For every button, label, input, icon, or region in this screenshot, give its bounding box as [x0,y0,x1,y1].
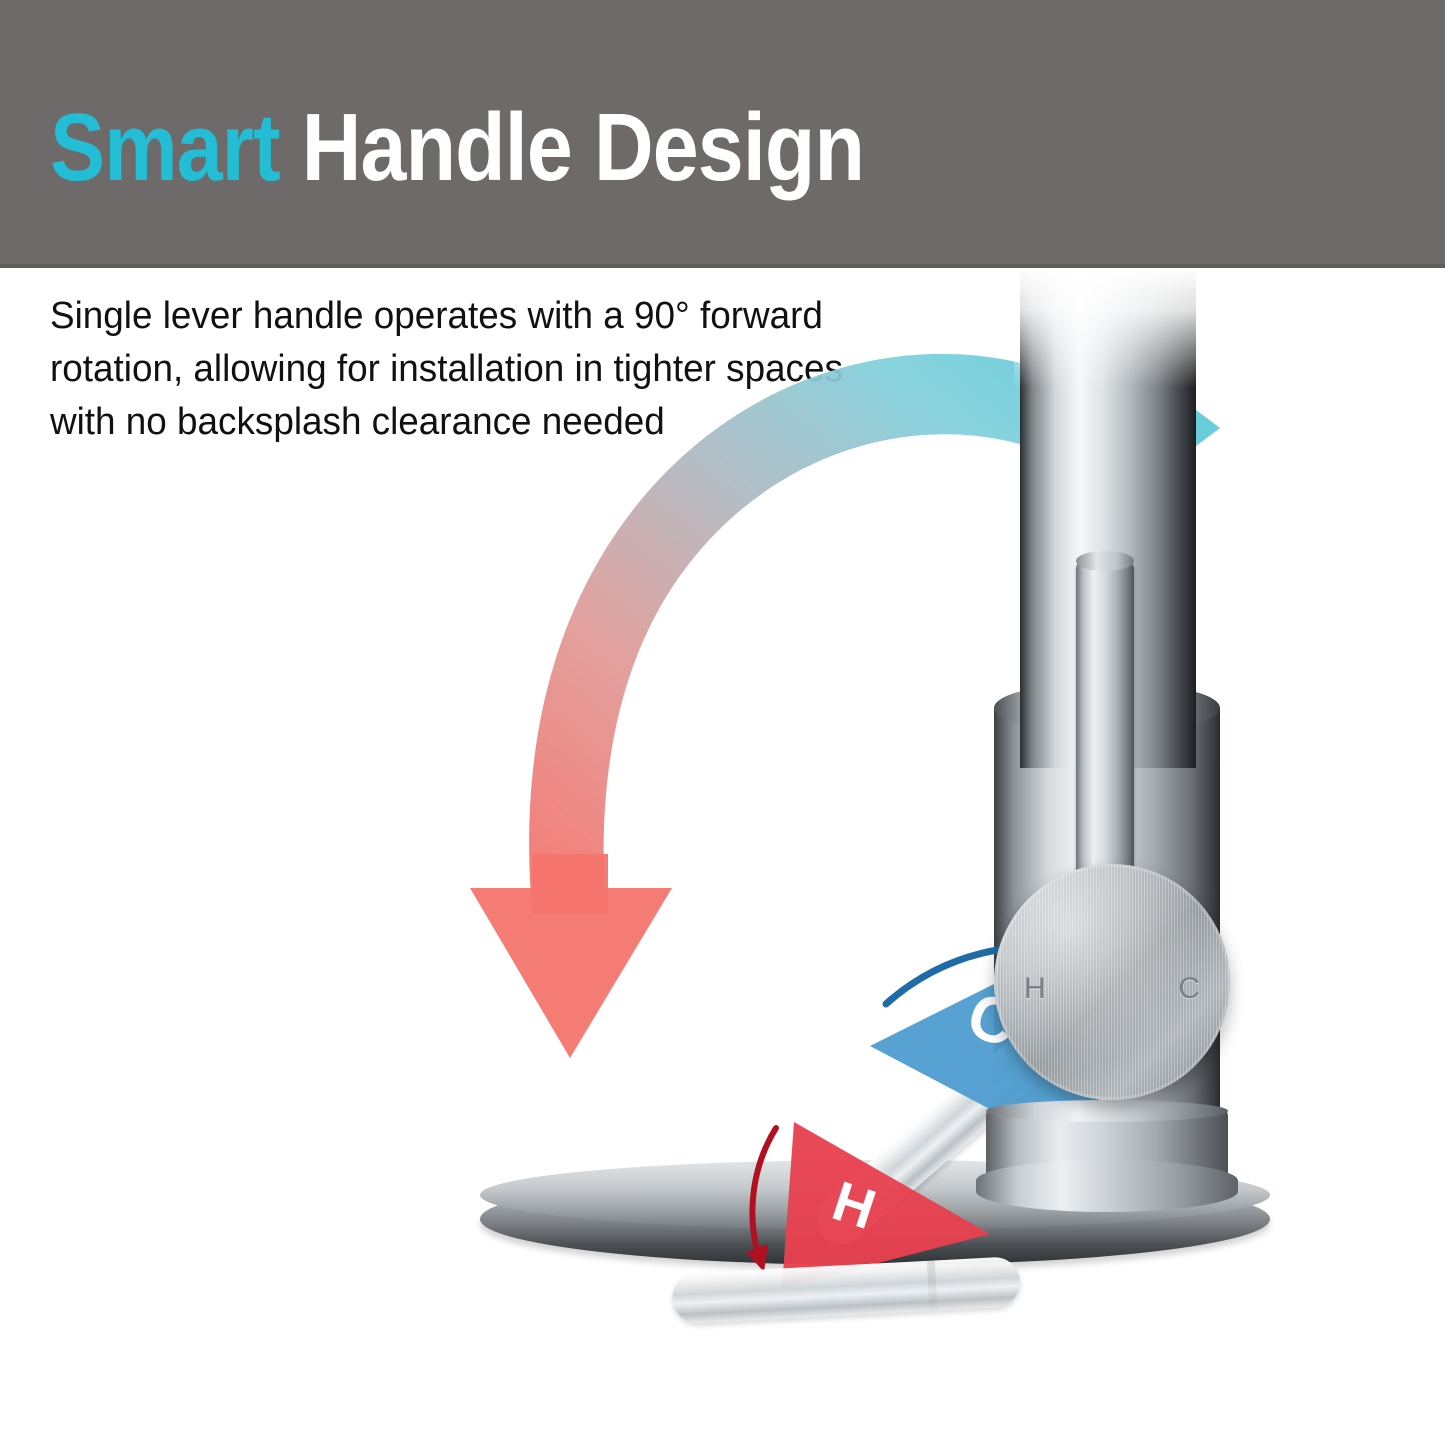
hot-rotation-arrowhead [746,1244,768,1272]
lever-ghost-horizontal [671,1256,1021,1324]
handle-hub[interactable]: H C [994,864,1230,1100]
faucet-assembly: C H H C [0,268,1445,1445]
product-illustration: C H H C [0,268,1445,1445]
spout-top-fade [1014,268,1204,388]
hub-hot-mark: H [1024,972,1046,1006]
faucet-collar-base [976,1160,1238,1212]
header-bar: Smart Handle Design [0,0,1445,268]
infographic-page: Smart Handle Design Single lever handle … [0,0,1445,1445]
title-accent-word: Smart [50,94,280,201]
title-rest: Handle Design [280,94,864,201]
page-title: Smart Handle Design [50,96,864,200]
hub-cold-mark: C [1178,972,1200,1006]
hot-rotation-arrow [752,1128,776,1254]
